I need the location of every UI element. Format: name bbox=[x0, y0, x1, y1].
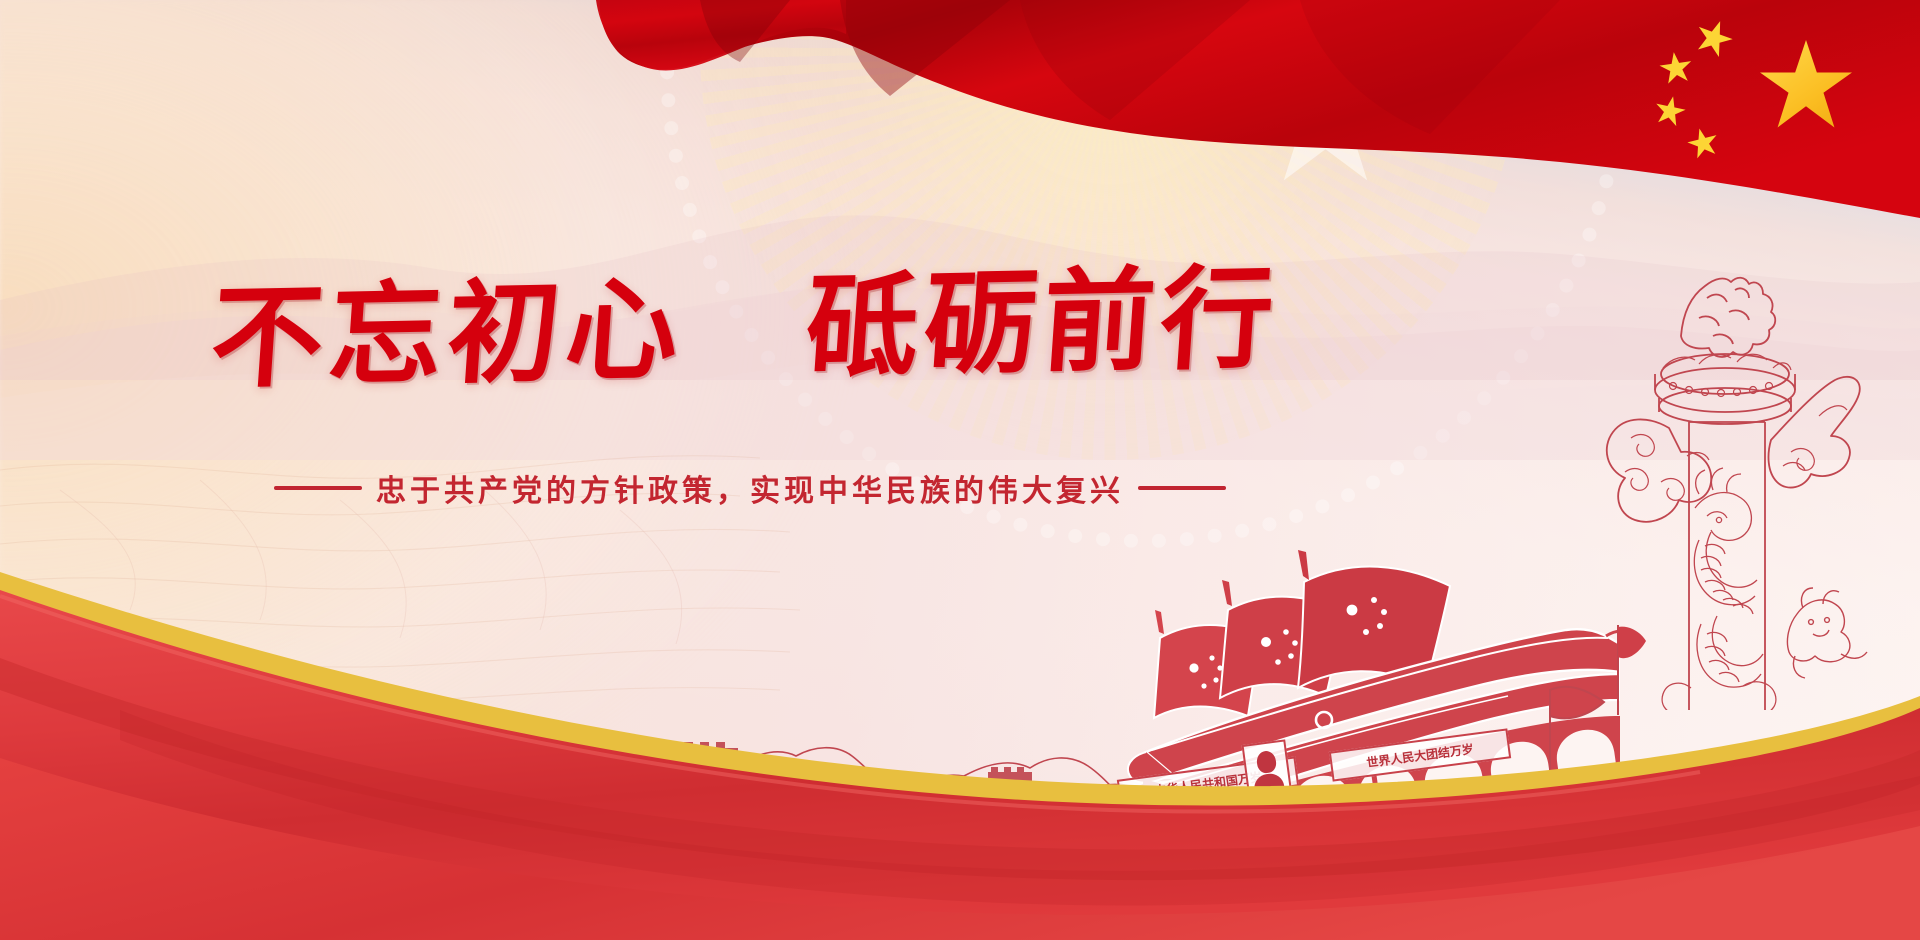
page-subtitle: 忠于共产党的方针政策，实现中华民族的伟大复兴 bbox=[376, 466, 1124, 510]
subtitle-rule-right bbox=[1138, 486, 1226, 490]
top-waving-flag bbox=[0, 0, 1920, 280]
title-part-1: 不忘初心 bbox=[207, 269, 688, 402]
title-gap bbox=[715, 366, 769, 367]
subtitle-block: 忠于共产党的方针政策，实现中华民族的伟大复兴 bbox=[0, 466, 1500, 510]
subtitle-rule-left bbox=[274, 486, 362, 490]
title-block: 不忘初心 砥砺前行 bbox=[0, 272, 1490, 390]
title-part-2: 砥砺前行 bbox=[802, 258, 1283, 391]
page-title: 不忘初心 砥砺前行 bbox=[207, 262, 1283, 400]
poster-canvas: 中华人民共和国万岁 世界人民大团结万岁 bbox=[0, 0, 1920, 940]
bottom-red-ribbon bbox=[0, 510, 1920, 940]
